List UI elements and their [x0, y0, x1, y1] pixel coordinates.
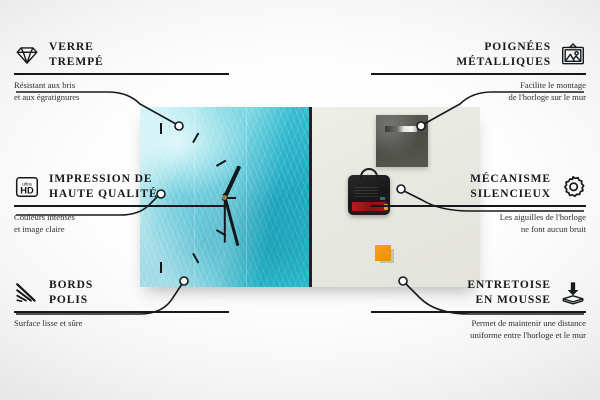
callout-title-line2: SILENCIEUX [470, 187, 551, 202]
callout-title-line2: MÉTALLIQUES [456, 55, 551, 70]
callout-desc-line2: et image claire [14, 223, 229, 235]
callout-header: VERRE TREMPÉ [14, 40, 229, 69]
callout-desc-line1: Permet de maintenir une distance [371, 317, 586, 329]
callout-title-line1: BORDS [49, 278, 93, 293]
callout-header: POIGNÉES MÉTALLIQUES [371, 40, 586, 69]
callout-divider [14, 73, 229, 75]
clock-tick [160, 262, 162, 273]
gear-icon [560, 174, 586, 200]
clock-tick [192, 253, 199, 264]
callout-divider [371, 73, 586, 75]
callout-header: BORDS POLIS [14, 278, 229, 307]
callout-mecanisme-silencieux: MÉCANISME SILENCIEUX Les aiguilles de l'… [371, 172, 586, 235]
polished-edge-icon [14, 280, 40, 306]
callout-description: Surface lisse et sûre [14, 317, 229, 329]
callout-desc-line1: Facilite le montage [371, 79, 586, 91]
callout-title-line2: EN MOUSSE [467, 293, 551, 308]
callout-header: ENTRETOISE EN MOUSSE [371, 278, 586, 307]
hanger-slot [385, 126, 417, 132]
callout-verre-trempe: VERRE TREMPÉ Résistant aux bris et aux é… [14, 40, 229, 103]
callout-divider [371, 205, 586, 207]
callout-header: ultra HD IMPRESSION DE HAUTE QUALITÉ [14, 172, 229, 201]
svg-text:HD: HD [20, 185, 34, 195]
callout-desc-line1: Couleurs intenses [14, 211, 229, 223]
callout-desc-line2: de l'horloge sur le mur [371, 91, 586, 103]
callout-title: MÉCANISME SILENCIEUX [470, 172, 551, 201]
orange-foam-spacer [375, 245, 391, 261]
clock-tick [160, 123, 162, 134]
callout-divider [14, 311, 229, 313]
callout-description: Couleurs intenses et image claire [14, 211, 229, 235]
callout-title-line1: POIGNÉES [456, 40, 551, 55]
callout-divider [371, 311, 586, 313]
foam-spacer-icon [560, 280, 586, 306]
clock-tick [215, 160, 226, 167]
diamond-icon [14, 42, 40, 68]
callout-title: IMPRESSION DE HAUTE QUALITÉ [49, 172, 158, 201]
callout-title-line2: POLIS [49, 293, 93, 308]
metallic-hanger-plate [376, 115, 428, 167]
picture-frame-icon [560, 42, 586, 68]
callout-description: Résistant aux bris et aux égratignures [14, 79, 229, 103]
callout-title-line1: MÉCANISME [470, 172, 551, 187]
ultra-hd-icon: ultra HD [14, 174, 40, 200]
callout-desc-line2: et aux égratignures [14, 91, 229, 103]
callout-desc-line2: ne font aucun bruit [371, 223, 586, 235]
callout-impression-haute-qualite: ultra HD IMPRESSION DE HAUTE QUALITÉ Cou… [14, 172, 229, 235]
clock-tick [192, 133, 199, 144]
callout-description: Permet de maintenir une distance uniform… [371, 317, 586, 341]
callout-title: POIGNÉES MÉTALLIQUES [456, 40, 551, 69]
callout-poignees-metalliques: POIGNÉES MÉTALLIQUES Facilite le montage… [371, 40, 586, 103]
callout-desc-line1: Les aiguilles de l'horloge [371, 211, 586, 223]
callout-title-line2: TREMPÉ [49, 55, 104, 70]
callout-title: ENTRETOISE EN MOUSSE [467, 278, 551, 307]
callout-desc-line1: Résistant aux bris [14, 79, 229, 91]
callout-desc-line1: Surface lisse et sûre [14, 317, 229, 329]
callout-description: Facilite le montage de l'horloge sur le … [371, 79, 586, 103]
callout-title-line1: ENTRETOISE [467, 278, 551, 293]
callout-divider [14, 205, 229, 207]
callout-description: Les aiguilles de l'horloge ne font aucun… [371, 211, 586, 235]
callout-title: VERRE TREMPÉ [49, 40, 104, 69]
callout-title-line1: VERRE [49, 40, 104, 55]
callout-title-line2: HAUTE QUALITÉ [49, 187, 158, 202]
callout-title-line1: IMPRESSION DE [49, 172, 158, 187]
callout-bords-polis: BORDS POLIS Surface lisse et sûre [14, 278, 229, 329]
callout-entretoise-en-mousse: ENTRETOISE EN MOUSSE Permet de maintenir… [371, 278, 586, 341]
callout-header: MÉCANISME SILENCIEUX [371, 172, 586, 201]
callout-title: BORDS POLIS [49, 278, 93, 307]
callout-desc-line2: uniforme entre l'horloge et le mur [371, 329, 586, 341]
